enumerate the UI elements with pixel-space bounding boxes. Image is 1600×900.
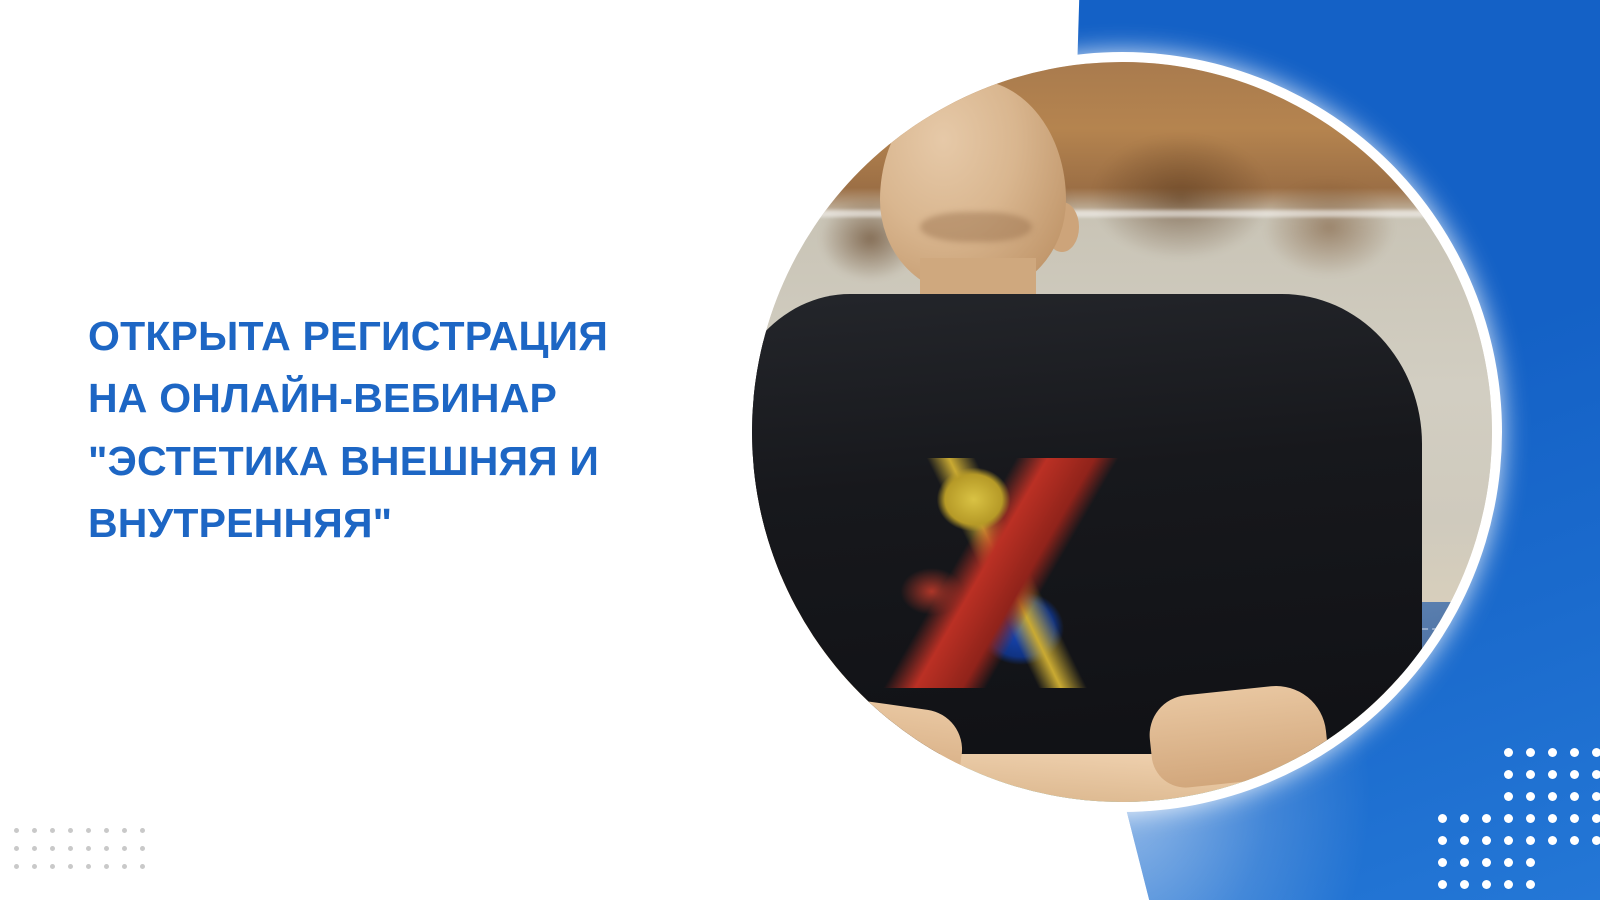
dot bbox=[86, 828, 91, 833]
dot bbox=[1548, 770, 1557, 779]
dot bbox=[50, 864, 55, 869]
dot bbox=[1504, 836, 1513, 845]
dot bbox=[1460, 858, 1469, 867]
photo-background bbox=[752, 62, 1492, 802]
dot bbox=[1526, 792, 1535, 801]
dot-empty bbox=[1570, 880, 1579, 889]
dot bbox=[1460, 814, 1469, 823]
dot bbox=[1526, 836, 1535, 845]
dot bbox=[32, 864, 37, 869]
dot bbox=[1526, 814, 1535, 823]
dot bbox=[1438, 880, 1447, 889]
dot-empty bbox=[1482, 792, 1491, 801]
dot bbox=[14, 864, 19, 869]
dot-empty bbox=[1482, 770, 1491, 779]
banner-canvas: ОТКРЫТА РЕГИСТРАЦИЯ НА ОНЛАЙН-ВЕБИНАР "Э… bbox=[0, 0, 1600, 900]
dot bbox=[1504, 880, 1513, 889]
dot bbox=[14, 828, 19, 833]
dot bbox=[1504, 770, 1513, 779]
massage-photo bbox=[752, 62, 1492, 802]
headline-text: ОТКРЫТА РЕГИСТРАЦИЯ НА ОНЛАЙН-ВЕБИНАР "Э… bbox=[88, 305, 708, 554]
dot bbox=[50, 846, 55, 851]
dot bbox=[1438, 858, 1447, 867]
dot bbox=[1526, 880, 1535, 889]
dot bbox=[104, 828, 109, 833]
dot bbox=[1548, 814, 1557, 823]
dot bbox=[1504, 814, 1513, 823]
photo-wall-trim bbox=[752, 210, 1492, 217]
dot bbox=[1548, 836, 1557, 845]
dot bbox=[50, 828, 55, 833]
dot-empty bbox=[1570, 858, 1579, 867]
dot bbox=[1526, 748, 1535, 757]
dot-empty bbox=[1438, 792, 1447, 801]
dot bbox=[1504, 792, 1513, 801]
dot bbox=[1570, 814, 1579, 823]
dot bbox=[86, 864, 91, 869]
white-dot-grid bbox=[1438, 748, 1600, 900]
dot bbox=[140, 846, 145, 851]
dot bbox=[1570, 770, 1579, 779]
dot-empty bbox=[1548, 858, 1557, 867]
dot bbox=[1482, 814, 1491, 823]
dot bbox=[32, 846, 37, 851]
dot bbox=[1504, 748, 1513, 757]
dot bbox=[1592, 792, 1600, 801]
dot bbox=[1570, 792, 1579, 801]
dot bbox=[68, 864, 73, 869]
dot bbox=[1460, 880, 1469, 889]
dot bbox=[1482, 880, 1491, 889]
dot-empty bbox=[1438, 770, 1447, 779]
dot bbox=[68, 828, 73, 833]
dot-empty bbox=[1460, 748, 1469, 757]
dot bbox=[122, 864, 127, 869]
dot bbox=[1460, 836, 1469, 845]
dot bbox=[122, 828, 127, 833]
therapist-right-hand bbox=[1146, 681, 1331, 791]
dot bbox=[1570, 748, 1579, 757]
dot bbox=[86, 846, 91, 851]
dot bbox=[140, 828, 145, 833]
dot bbox=[1592, 836, 1600, 845]
dot-empty bbox=[1548, 880, 1557, 889]
dot bbox=[1592, 770, 1600, 779]
dot-empty bbox=[1592, 880, 1600, 889]
dot bbox=[1438, 836, 1447, 845]
dot bbox=[1548, 748, 1557, 757]
dot bbox=[1592, 748, 1600, 757]
dot-empty bbox=[1482, 748, 1491, 757]
dot bbox=[1504, 858, 1513, 867]
dot bbox=[1592, 814, 1600, 823]
tshirt-graphic-print bbox=[874, 458, 1136, 688]
gray-dot-grid bbox=[14, 828, 158, 882]
dot bbox=[104, 846, 109, 851]
dot bbox=[1526, 770, 1535, 779]
dot bbox=[1548, 792, 1557, 801]
dot bbox=[1526, 858, 1535, 867]
dot bbox=[140, 864, 145, 869]
dot bbox=[68, 846, 73, 851]
dot bbox=[32, 828, 37, 833]
dot-empty bbox=[1438, 748, 1447, 757]
photo-wall-mural bbox=[752, 102, 1492, 292]
dot bbox=[104, 864, 109, 869]
dot-empty bbox=[1460, 792, 1469, 801]
dot bbox=[122, 846, 127, 851]
dot bbox=[1438, 814, 1447, 823]
therapist-brow bbox=[920, 212, 1032, 242]
dot-empty bbox=[1592, 858, 1600, 867]
dot-empty bbox=[1460, 770, 1469, 779]
dot bbox=[1570, 836, 1579, 845]
dot bbox=[14, 846, 19, 851]
dot bbox=[1482, 858, 1491, 867]
dot bbox=[1482, 836, 1491, 845]
